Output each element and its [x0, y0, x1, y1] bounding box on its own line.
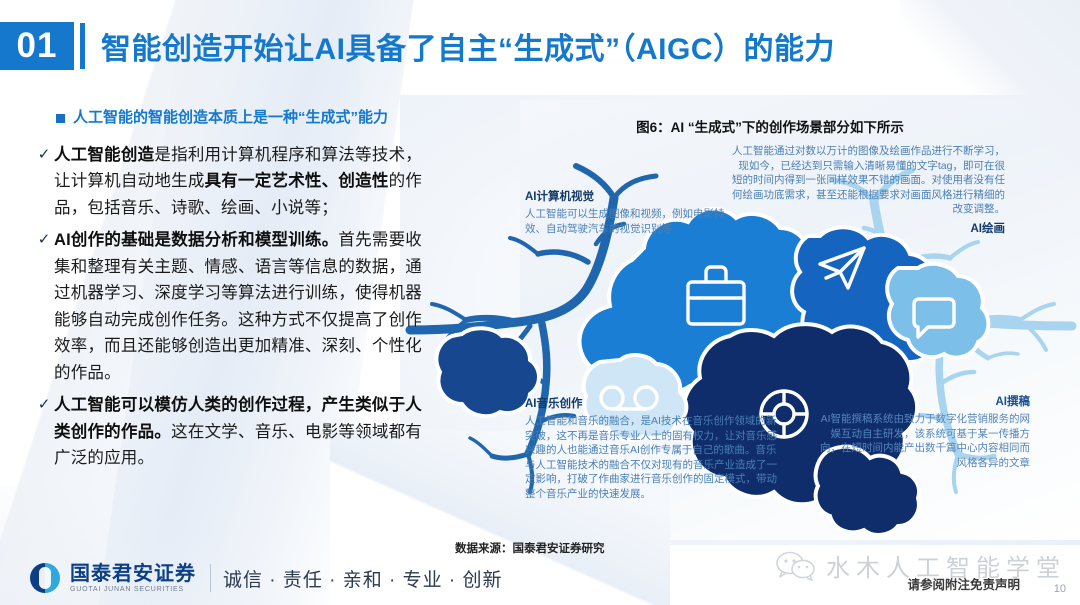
label-body: 人工智能可以生成图像和视频，例如电影特效、自动驾驶汽车的视觉识别等: [525, 207, 740, 236]
label-ai-writing: AI撰稿 AI智能撰稿系统由致力于数字化营销服务的网娱互动自主研发，该系统可基于…: [815, 393, 1030, 470]
ai-brain-diagram: AI计算机视觉 人工智能可以生成图像和视频，例如电影特效、自动驾驶汽车的视觉识别…: [400, 140, 1080, 540]
wechat-icon: [776, 551, 816, 581]
bullet-body-1: 首先需要收集和整理有关主题、情感、语言等信息的数据，通过机器学习、深度学习等算法…: [54, 231, 422, 382]
logo-text-block: 国泰君安证券 GUOTAI JUNAN SECURITIES: [70, 564, 196, 593]
logo-divider: [210, 564, 211, 592]
figure-title: 图6：AI “生成式”下的创作场景部分如下所示: [560, 116, 980, 136]
section-number-badge: 01: [0, 22, 74, 70]
left-content-column: 人工智能的智能创造本质上是一种“生成式”能力 ✓ 人工智能创造是指利用计算机程序…: [34, 108, 434, 478]
logo-company-en: GUOTAI JUNAN SECURITIES: [70, 586, 196, 593]
label-ai-music: AI音乐创作 人工智能和音乐的融合，是AI技术在音乐创作领域的新突破，这不再是音…: [525, 395, 780, 502]
bullet-text: 人工智能创造是指利用计算机程序和算法等技术，让计算机自动地生成具有一定艺术性、创…: [54, 142, 422, 222]
brain-lobe-navy-left: [436, 328, 539, 416]
label-body: AI智能撰稿系统由致力于数字化营销服务的网娱互动自主研发，该系统可基于某一传播方…: [815, 412, 1030, 470]
bullet-text: AI创作的基础是数据分析和模型训练。首先需要收集和整理有关主题、情感、语言等信息…: [54, 227, 422, 386]
slide-header: 01 智能创造开始让AI具备了自主“生成式”（AIGC）的能力: [0, 22, 835, 70]
label-body: 人工智能和音乐的融合，是AI技术在音乐创作领域的新突破，这不再是音乐专业人士的固…: [525, 414, 780, 502]
disclaimer-text: 请参阅附注免责声明: [907, 574, 1020, 593]
label-title: AI计算机视觉: [525, 188, 740, 204]
check-icon: ✓: [34, 392, 54, 418]
check-icon: ✓: [34, 227, 54, 253]
label-ai-painting: 人工智能通过对数以万计的图像及绘画作品进行不断学习，现如今，已经达到只需输入清晰…: [730, 144, 1005, 236]
bullet-bold-2: 具有一定艺术性、创造性: [205, 172, 389, 190]
list-item: ✓ 人工智能可以模仿人类的创作过程，产生类似于人类创作的作品。这在文学、音乐、电…: [34, 392, 434, 472]
slide-root: 01 智能创造开始让AI具备了自主“生成式”（AIGC）的能力 人工智能的智能创…: [0, 0, 1080, 605]
logo-company-cn: 国泰君安证券: [70, 564, 196, 584]
bullet-lead: AI创作的基础是数据分析和模型训练。: [54, 231, 338, 249]
label-title: AI撰稿: [815, 393, 1030, 409]
company-slogan: 诚信 · 责任 · 亲和 · 专业 · 创新: [223, 565, 503, 592]
label-title: AI绘画: [730, 220, 1005, 236]
bullet-text: 人工智能可以模仿人类的创作过程，产生类似于人类创作的作品。这在文学、音乐、电影等…: [54, 392, 422, 472]
slide-footer: 国泰君安证券 GUOTAI JUNAN SECURITIES 诚信 · 责任 ·…: [0, 545, 1080, 605]
list-item: ✓ AI创作的基础是数据分析和模型训练。首先需要收集和整理有关主题、情感、语言等…: [34, 227, 434, 386]
check-icon: ✓: [34, 142, 54, 168]
square-bullet-icon: [56, 114, 65, 123]
label-body: 人工智能通过对数以万计的图像及绘画作品进行不断学习，现如今，已经达到只需输入清晰…: [730, 144, 1005, 217]
header-rule: [80, 23, 85, 69]
guotai-junan-logo-icon: [30, 563, 60, 593]
list-item: ✓ 人工智能创造是指利用计算机程序和算法等技术，让计算机自动地生成具有一定艺术性…: [34, 142, 434, 222]
page-title: 智能创造开始让AI具备了自主“生成式”（AIGC）的能力: [101, 24, 835, 68]
page-number: 10: [1054, 583, 1066, 595]
company-logo: 国泰君安证券 GUOTAI JUNAN SECURITIES 诚信 · 责任 ·…: [30, 563, 503, 593]
section-heading: 人工智能的智能创造本质上是一种“生成式”能力: [56, 108, 434, 128]
label-computer-vision: AI计算机视觉 人工智能可以生成图像和视频，例如电影特效、自动驾驶汽车的视觉识别…: [525, 188, 740, 236]
bullet-lead: 人工智能创造: [54, 146, 154, 164]
section-heading-text: 人工智能的智能创造本质上是一种“生成式”能力: [73, 108, 388, 128]
label-title: AI音乐创作: [525, 395, 780, 411]
